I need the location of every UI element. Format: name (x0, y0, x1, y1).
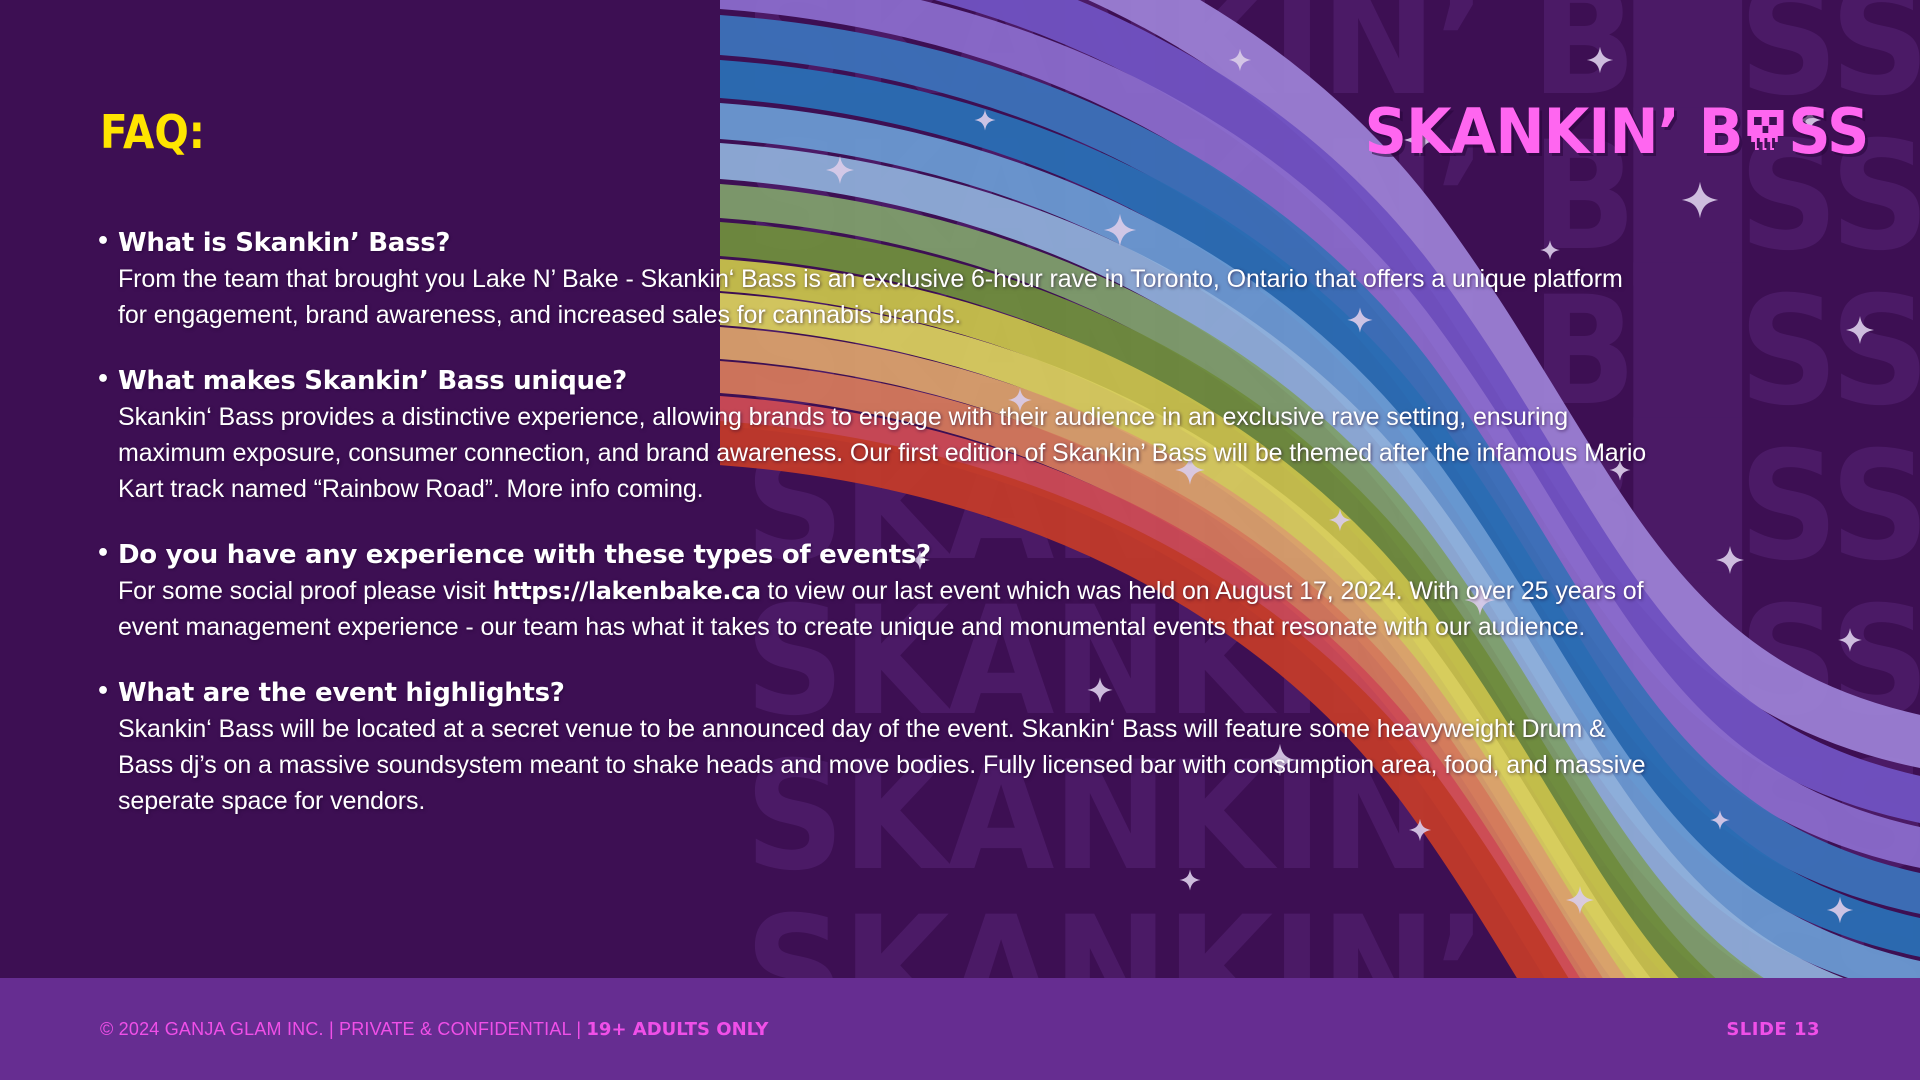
faq-answer-pre: Skankin‘ Bass will be located at a secre… (118, 715, 1645, 815)
faq-question: Do you have any experience with these ty… (96, 537, 1676, 573)
faq-answer: For some social proof please visit https… (96, 573, 1654, 645)
faq-item: What makes Skankin’ Bass unique? Skankin… (96, 363, 1676, 507)
faq-answer-pre: For some social proof please visit (118, 577, 492, 605)
faq-item: What are the event highlights? Skankin‘ … (96, 675, 1676, 819)
faq-question: What are the event highlights? (96, 675, 1676, 711)
faq-answer: From the team that brought you Lake N’ B… (96, 261, 1654, 333)
brand-logo: SKANKIN’ B SS (1364, 95, 1868, 168)
slide-number: SLIDE 13 (1726, 1019, 1820, 1040)
page-title: FAQ: (100, 105, 205, 159)
faq-item: What is Skankin’ Bass? From the team tha… (96, 225, 1676, 333)
footer-age-notice: 19+ ADULTS ONLY (586, 1019, 768, 1040)
faq-question: What is Skankin’ Bass? (96, 225, 1676, 261)
footer-copyright-text: © 2024 GANJA GLAM INC. | PRIVATE & CONFI… (100, 1019, 586, 1039)
faq-question: What makes Skankin’ Bass unique? (96, 363, 1676, 399)
footer-copyright: © 2024 GANJA GLAM INC. | PRIVATE & CONFI… (100, 1019, 768, 1040)
faq-answer-link[interactable]: https://lakenbake.ca (492, 577, 760, 605)
brand-logo-text-part2: SS (1788, 95, 1868, 168)
faq-item: Do you have any experience with these ty… (96, 537, 1676, 645)
faq-answer-pre: From the team that brought you Lake N’ B… (118, 265, 1623, 329)
slide-root: SKANKIN’ B█SS SKANKIN’ B█SS SKANKIN’ B█S… (0, 0, 1920, 1080)
faq-list: What is Skankin’ Bass? From the team tha… (96, 225, 1676, 849)
faq-answer-pre: Skankin‘ Bass provides a distinctive exp… (118, 403, 1646, 503)
faq-answer: Skankin‘ Bass will be located at a secre… (96, 711, 1654, 819)
brand-logo-text-part1: SKANKIN’ B (1364, 95, 1742, 168)
faq-answer: Skankin‘ Bass provides a distinctive exp… (96, 399, 1654, 507)
skull-icon (1743, 108, 1787, 156)
slide-footer: © 2024 GANJA GLAM INC. | PRIVATE & CONFI… (0, 978, 1920, 1080)
